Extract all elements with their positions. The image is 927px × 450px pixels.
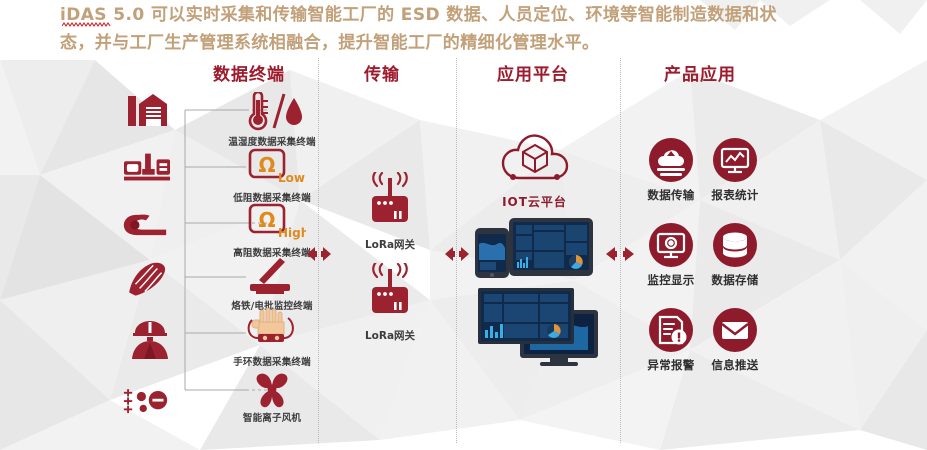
- svg-text:Ω: Ω: [258, 153, 275, 177]
- product-label: 信息推送: [692, 357, 778, 373]
- iot-cloud-platform: IOT云平台: [487, 132, 582, 210]
- svg-text:Low: Low: [278, 171, 305, 185]
- gateway-label: LoRa网关: [345, 237, 435, 252]
- ohm-high-icon: Ω High: [238, 203, 306, 243]
- headline-line-1: iDAS 5.0 可以实时采集和传输智能工厂的 ESD 数据、人员定位、环境等智…: [60, 2, 777, 29]
- terminal-label: 低阻数据采集终端: [212, 190, 332, 204]
- spellcheck-squiggle-icon: [62, 22, 114, 27]
- static-charge-icon: [123, 382, 169, 422]
- terminal-item-soldering-monitor: 烙铁/电批监控终端: [212, 256, 332, 312]
- column-header-platform: 应用平台: [497, 60, 569, 85]
- arrow-pair-platform-products: [600, 245, 640, 263]
- monitor-display-icon: [649, 223, 693, 267]
- diagram-canvas: iDAS 5.0 可以实时采集和传输智能工厂的 ESD 数据、人员定位、环境等智…: [0, 0, 927, 450]
- workbench-icon: [124, 148, 170, 188]
- conveyor-roll-icon: [122, 205, 168, 245]
- terminal-item-low-resistance: Ω Low 低阻数据采集终端: [212, 148, 332, 204]
- soldering-tip-icon: [125, 260, 171, 300]
- envelope-icon: [713, 308, 757, 352]
- worker-helmet-icon: [127, 320, 173, 360]
- terminal-item-ionizing-fan: 智能离子风机: [212, 372, 332, 424]
- column-header-transmission: 传输: [364, 60, 400, 85]
- terminal-label: 手环数据采集终端: [212, 354, 332, 368]
- platform-devices-tablet-phone: [475, 218, 593, 280]
- ionizing-fan-icon: [238, 372, 306, 408]
- wrist-strap-icon: [238, 308, 306, 352]
- gateway-label: LoRa网关: [345, 328, 435, 343]
- product-item-data-storage[interactable]: 数据存储: [692, 223, 778, 288]
- iot-cloud-cube-icon: [499, 132, 571, 188]
- column-header-products: 产品应用: [664, 60, 736, 85]
- alarm-document-icon: [649, 308, 693, 352]
- svg-text:Ω: Ω: [258, 208, 275, 232]
- data-transmit-icon: [649, 138, 693, 182]
- factory-building-icon: [125, 90, 171, 130]
- report-chart-icon: [713, 138, 757, 182]
- ohm-low-icon: Ω Low: [238, 148, 306, 188]
- thermometer-humidity-icon: [238, 92, 306, 132]
- platform-devices-laptop-monitor: [478, 288, 604, 366]
- lora-gateway-icon: [358, 172, 422, 232]
- svg-text:High: High: [278, 226, 306, 240]
- product-label: 数据存储: [692, 272, 778, 288]
- arrow-pair-transmission-platform: [440, 245, 474, 263]
- headline-block: iDAS 5.0 可以实时采集和传输智能工厂的 ESD 数据、人员定位、环境等智…: [60, 0, 860, 58]
- gateway-item-2: LoRa网关: [345, 263, 435, 343]
- headline-line-2: 态，并与工厂生产管理系统相融合，提升智能工厂的精细化管理水平。: [60, 30, 599, 57]
- database-icon: [713, 223, 757, 267]
- product-item-report-stats[interactable]: 报表统计: [692, 138, 778, 203]
- product-item-message-push[interactable]: 信息推送: [692, 308, 778, 373]
- arrow-pair-terminals-transmission: [302, 245, 336, 263]
- gateway-item-1: LoRa网关: [345, 172, 435, 252]
- terminal-label: 温湿度数据采集终端: [212, 134, 332, 148]
- terminal-item-temp-humidity: 温湿度数据采集终端: [212, 92, 332, 148]
- lora-gateway-icon: [358, 263, 422, 323]
- product-label: 报表统计: [692, 187, 778, 203]
- terminal-item-wristband: 手环数据采集终端: [212, 308, 332, 368]
- column-header-terminals: 数据终端: [213, 60, 285, 85]
- terminal-label: 智能离子风机: [212, 410, 332, 424]
- iot-cloud-label: IOT云平台: [487, 193, 582, 210]
- soldering-iron-icon: [238, 256, 306, 296]
